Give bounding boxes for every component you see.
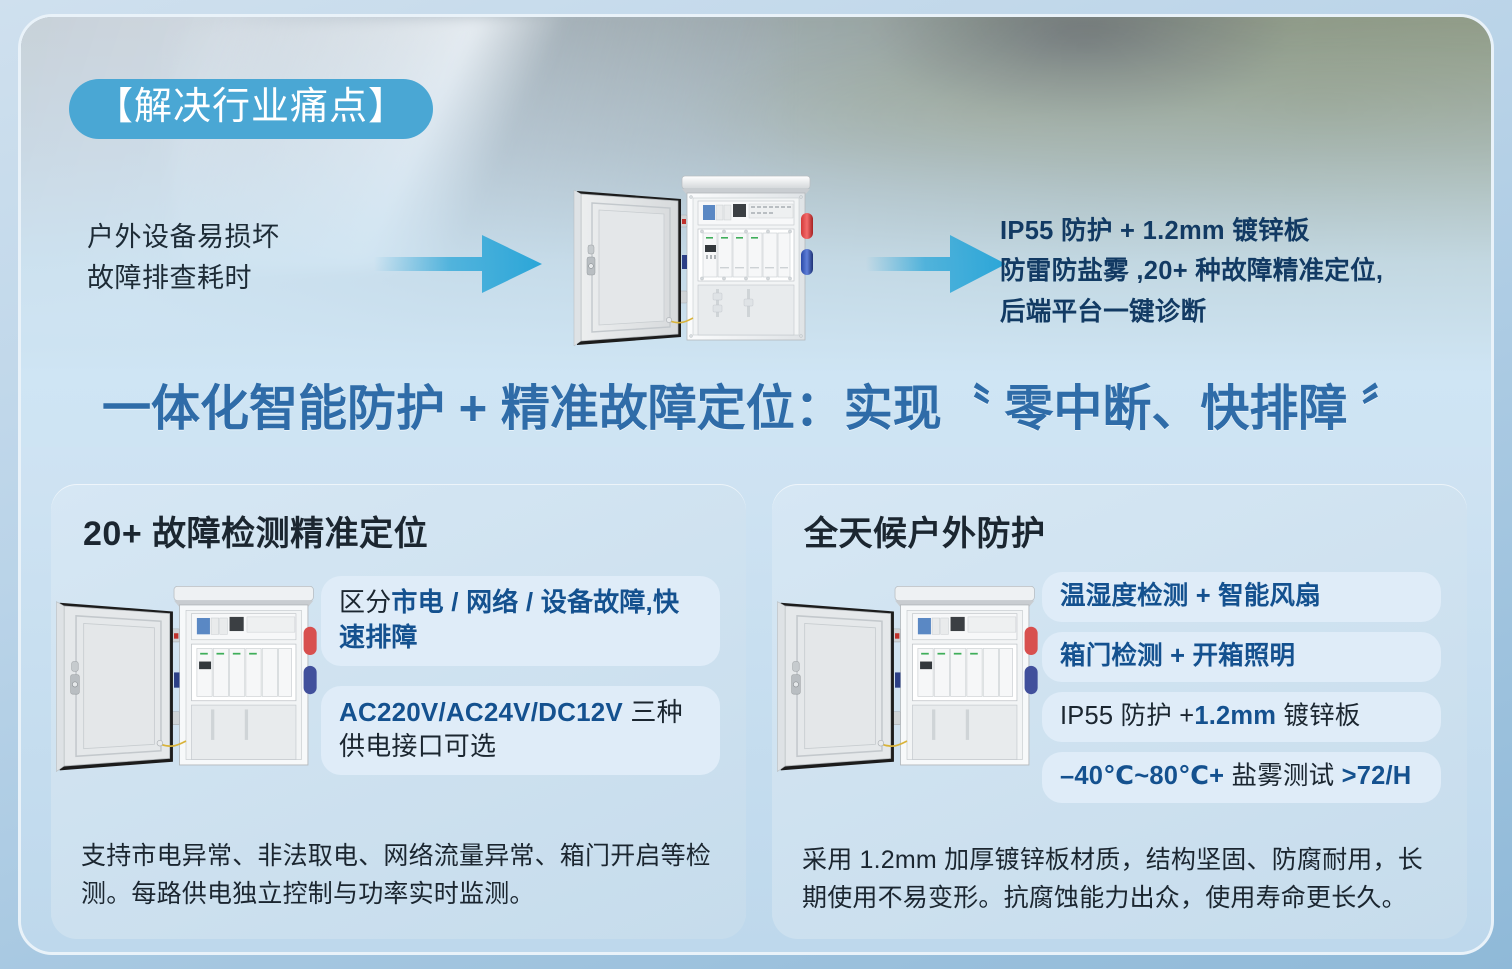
infographic-page: 【解决行业痛点】 户外设备易损坏 故障排查耗时	[0, 0, 1512, 969]
card-title: 全天候户外防护	[804, 506, 1046, 555]
feature-pill: 温湿度检测 + 智能风扇	[1042, 572, 1441, 622]
card-note: 支持市电异常、非法取电、网络流量异常、箱门开启等检测。每路供电独立控制与功率实时…	[81, 837, 720, 913]
feature-cards: 20+ 故障检测精准定位	[51, 484, 1467, 939]
smart-outdoor-cabinet-image	[51, 572, 321, 787]
card-fault-detection: 20+ 故障检测精准定位	[51, 484, 746, 939]
pill-highlight: 1.2mm	[1194, 702, 1276, 730]
feature-pill-list: 区分市电 / 网络 / 设备故障,快速排障 AC220V/AC24V/DC12V…	[321, 576, 746, 775]
pill-highlight: –40℃~80℃+	[1060, 762, 1224, 790]
smart-outdoor-cabinet-image	[772, 572, 1042, 787]
feature-pill-list: 温湿度检测 + 智能风扇 箱门检测 + 开箱照明 IP55 防护 +1.2mm …	[1042, 572, 1467, 803]
pill-highlight: AC220V/AC24V/DC12V	[339, 697, 623, 727]
problem-line-1: 户外设备易损坏	[87, 217, 280, 258]
problem-line-2: 故障排查耗时	[87, 258, 280, 299]
feature-pill: IP55 防护 +1.2mm 镀锌板	[1042, 692, 1441, 742]
arrow-right-icon	[866, 232, 1006, 296]
pill-suffix: 盐雾测试	[1224, 762, 1341, 790]
section-badge: 【解决行业痛点】	[69, 79, 433, 139]
card-outdoor-protection: 全天候户外防护	[772, 484, 1467, 939]
problem-text: 户外设备易损坏 故障排查耗时	[87, 217, 280, 298]
solution-line-2: 防雷防盐雾 ,20+ 种故障精准定位,	[1000, 251, 1383, 291]
pill-highlight: 温湿度检测 + 智能风扇	[1060, 582, 1321, 610]
feature-pill: 区分市电 / 网络 / 设备故障,快速排障	[321, 576, 720, 666]
solution-line-1: IP55 防护 + 1.2mm 镀锌板	[1000, 211, 1383, 251]
card-note: 采用 1.2mm 加厚镀锌板材质，结构坚固、防腐耐用，长期使用不易变形。抗腐蚀能…	[802, 841, 1441, 917]
feature-pill: 箱门检测 + 开箱照明	[1042, 632, 1441, 682]
solution-text: IP55 防护 + 1.2mm 镀锌板 防雷防盐雾 ,20+ 种故障精准定位, …	[1000, 211, 1383, 332]
pill-highlight-2: >72/H	[1342, 762, 1412, 790]
card-body: 温湿度检测 + 智能风扇 箱门检测 + 开箱照明 IP55 防护 +1.2mm …	[772, 572, 1467, 792]
arrow-right-icon	[374, 232, 542, 296]
page-title: 一体化智能防护 + 精准故障定位：实现〝 零中断、快排障 〞	[21, 369, 1491, 440]
feature-pill: AC220V/AC24V/DC12V 三种供电接口可选	[321, 686, 720, 776]
pill-highlight: 箱门检测 + 开箱照明	[1060, 642, 1295, 670]
smart-outdoor-cabinet-image	[569, 169, 817, 354]
pill-prefix: IP55 防护 +	[1060, 702, 1194, 730]
card-title: 20+ 故障检测精准定位	[83, 506, 428, 555]
solution-line-3: 后端平台一键诊断	[1000, 292, 1383, 332]
feature-pill: –40℃~80℃+ 盐雾测试 >72/H	[1042, 752, 1441, 802]
pill-suffix: 镀锌板	[1276, 702, 1360, 730]
content-frame: 【解决行业痛点】 户外设备易损坏 故障排查耗时	[18, 14, 1494, 955]
pill-highlight: 市电 / 网络 / 设备故障,	[391, 587, 653, 617]
pill-prefix: 区分	[339, 587, 391, 617]
card-body: 区分市电 / 网络 / 设备故障,快速排障 AC220V/AC24V/DC12V…	[51, 572, 746, 792]
